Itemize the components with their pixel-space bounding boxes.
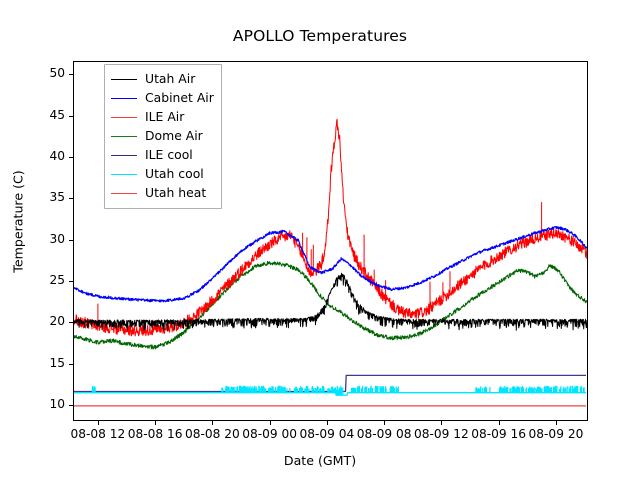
y-tick-label: 35 (25, 190, 65, 204)
x-tick-mark (212, 421, 213, 425)
y-tick-label: 45 (25, 108, 65, 122)
legend-label: ILE cool (145, 149, 193, 161)
legend-item[interactable]: ILE cool (111, 146, 214, 165)
x-tick-mark (327, 421, 328, 425)
legend-swatch-icon (111, 98, 137, 99)
legend-label: Utah heat (145, 187, 206, 199)
y-axis-label: Temperature (C) (11, 72, 26, 372)
y-tick-label: 20 (25, 314, 65, 328)
legend-swatch-icon (111, 79, 137, 80)
chart-legend: Utah AirCabinet AirILE AirDome AirILE co… (104, 64, 222, 209)
series-spikes-utah-cool (93, 386, 585, 396)
legend-label: ILE Air (145, 111, 184, 123)
y-tick-label: 15 (25, 356, 65, 370)
x-tick-mark (556, 421, 557, 425)
y-tick-label: 50 (25, 66, 65, 80)
x-tick-mark (499, 421, 500, 425)
legend-label: Dome Air (145, 130, 203, 142)
legend-item[interactable]: Utah cool (111, 165, 214, 184)
legend-item[interactable]: ILE Air (111, 108, 214, 127)
chart-figure: APOLLO Temperatures Temperature (C) Date… (0, 0, 640, 480)
legend-swatch-icon (111, 136, 137, 137)
chart-title: APOLLO Temperatures (0, 27, 640, 45)
x-axis-label: Date (GMT) (0, 453, 640, 468)
legend-item[interactable]: Dome Air (111, 127, 214, 146)
y-tick-label: 10 (25, 397, 65, 411)
legend-label: Utah Air (145, 73, 195, 85)
y-tick-label: 25 (25, 273, 65, 287)
legend-swatch-icon (111, 193, 137, 194)
x-tick-label: 08-09 20 (506, 427, 606, 441)
x-tick-mark (98, 421, 99, 425)
legend-item[interactable]: Cabinet Air (111, 89, 214, 108)
legend-label: Utah cool (145, 168, 204, 180)
legend-swatch-icon (111, 174, 137, 175)
legend-swatch-icon (111, 155, 137, 156)
x-tick-mark (384, 421, 385, 425)
x-tick-mark (441, 421, 442, 425)
y-tick-label: 30 (25, 232, 65, 246)
legend-item[interactable]: Utah Air (111, 70, 214, 89)
x-tick-mark (155, 421, 156, 425)
legend-item[interactable]: Utah heat (111, 184, 214, 203)
x-tick-mark (270, 421, 271, 425)
legend-label: Cabinet Air (145, 92, 214, 104)
y-tick-label: 40 (25, 149, 65, 163)
legend-swatch-icon (111, 117, 137, 118)
series-line-dome-air (74, 261, 587, 349)
series-line-utah-cool (74, 393, 586, 396)
